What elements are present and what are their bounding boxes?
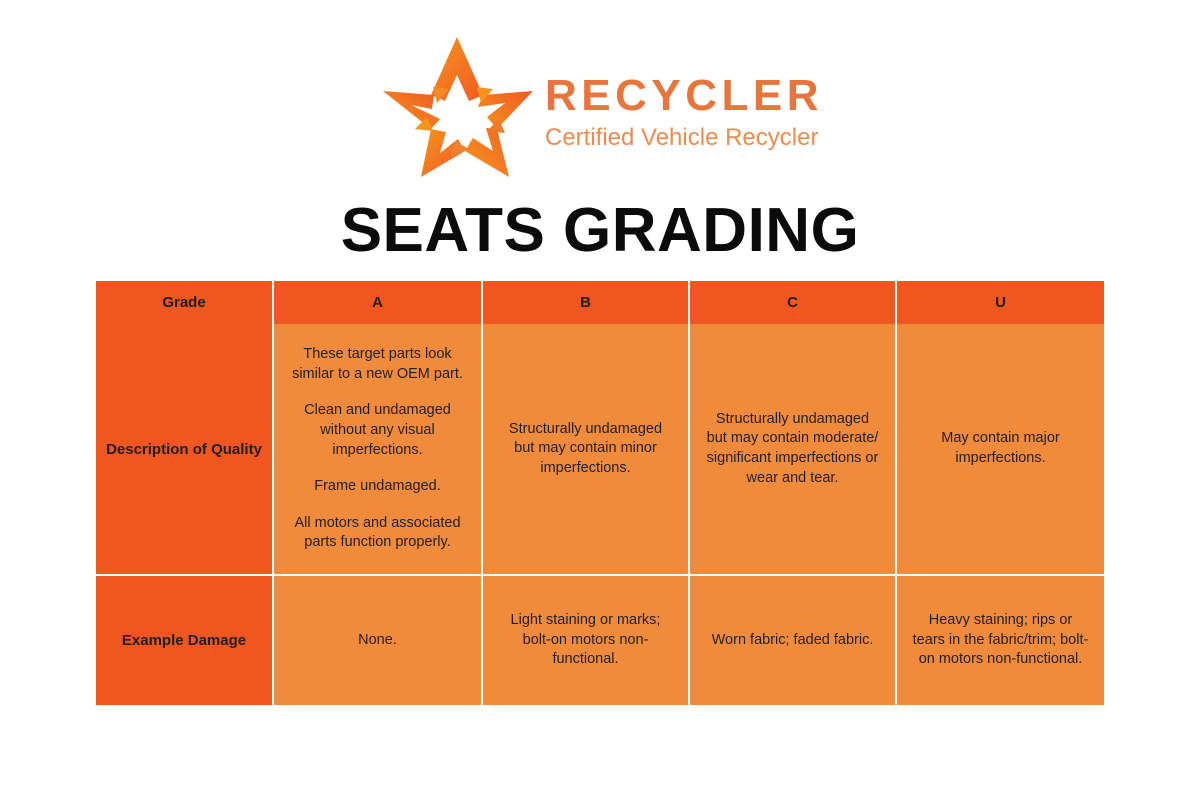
table-row-example-damage: Example Damage None. Light staining or m… [96,576,1104,705]
table-header-row: Grade A B C U [96,281,1104,324]
cell-paragraph: Worn fabric; faded fabric. [704,631,881,651]
cell-description-c: Structurally undamaged but may contain m… [690,324,897,576]
cell-paragraph: Structurally undamaged but may contain m… [497,420,674,479]
page-title: SEATS GRADING [0,195,1200,266]
cell-paragraph: None. [288,631,467,651]
cell-paragraph: All motors and associated parts function… [288,514,467,553]
row-label-description-of-quality: Description of Quality [96,324,274,576]
brand-logo-inner: RECYCLER Certified Vehicle Recycler [377,31,823,181]
cell-paragraph: Frame undamaged. [288,477,467,497]
cell-paragraph: Structurally undamaged but may contain m… [704,410,881,488]
header-grade: Grade [96,281,274,324]
cell-paragraph: May contain major imperfections. [911,429,1090,468]
cell-paragraph: These target parts look similar to a new… [288,345,467,384]
cell-paragraph: Clean and undamaged without any visual i… [288,401,467,460]
brand-wordmark: RECYCLER Certified Vehicle Recycler [545,58,823,153]
header-grade-a: A [274,281,483,324]
cell-paragraph: Heavy staining; rips or tears in the fab… [911,611,1090,670]
table-row-description-of-quality: Description of Quality These target part… [96,324,1104,576]
cell-description-a: These target parts look similar to a new… [274,324,483,576]
cell-paragraph: Light staining or marks; bolt-on motors … [497,611,674,670]
cell-description-u: May contain major imperfections. [897,324,1104,576]
header-grade-u: U [897,281,1104,324]
header-grade-c: C [690,281,897,324]
cell-damage-u: Heavy staining; rips or tears in the fab… [897,576,1104,705]
brand-logo-block: RECYCLER Certified Vehicle Recycler [0,28,1200,183]
recycling-star-logo-icon [377,31,537,181]
brand-tagline: Certified Vehicle Recycler [545,123,818,153]
cell-damage-c: Worn fabric; faded fabric. [690,576,897,705]
row-label-example-damage: Example Damage [96,576,274,705]
cell-damage-a: None. [274,576,483,705]
header-grade-b: B [483,281,690,324]
cell-description-b: Structurally undamaged but may contain m… [483,324,690,576]
seats-grading-table: Grade A B C U Description of Quality The… [96,281,1104,705]
cell-damage-b: Light staining or marks; bolt-on motors … [483,576,690,705]
brand-title: RECYCLER [545,74,823,119]
